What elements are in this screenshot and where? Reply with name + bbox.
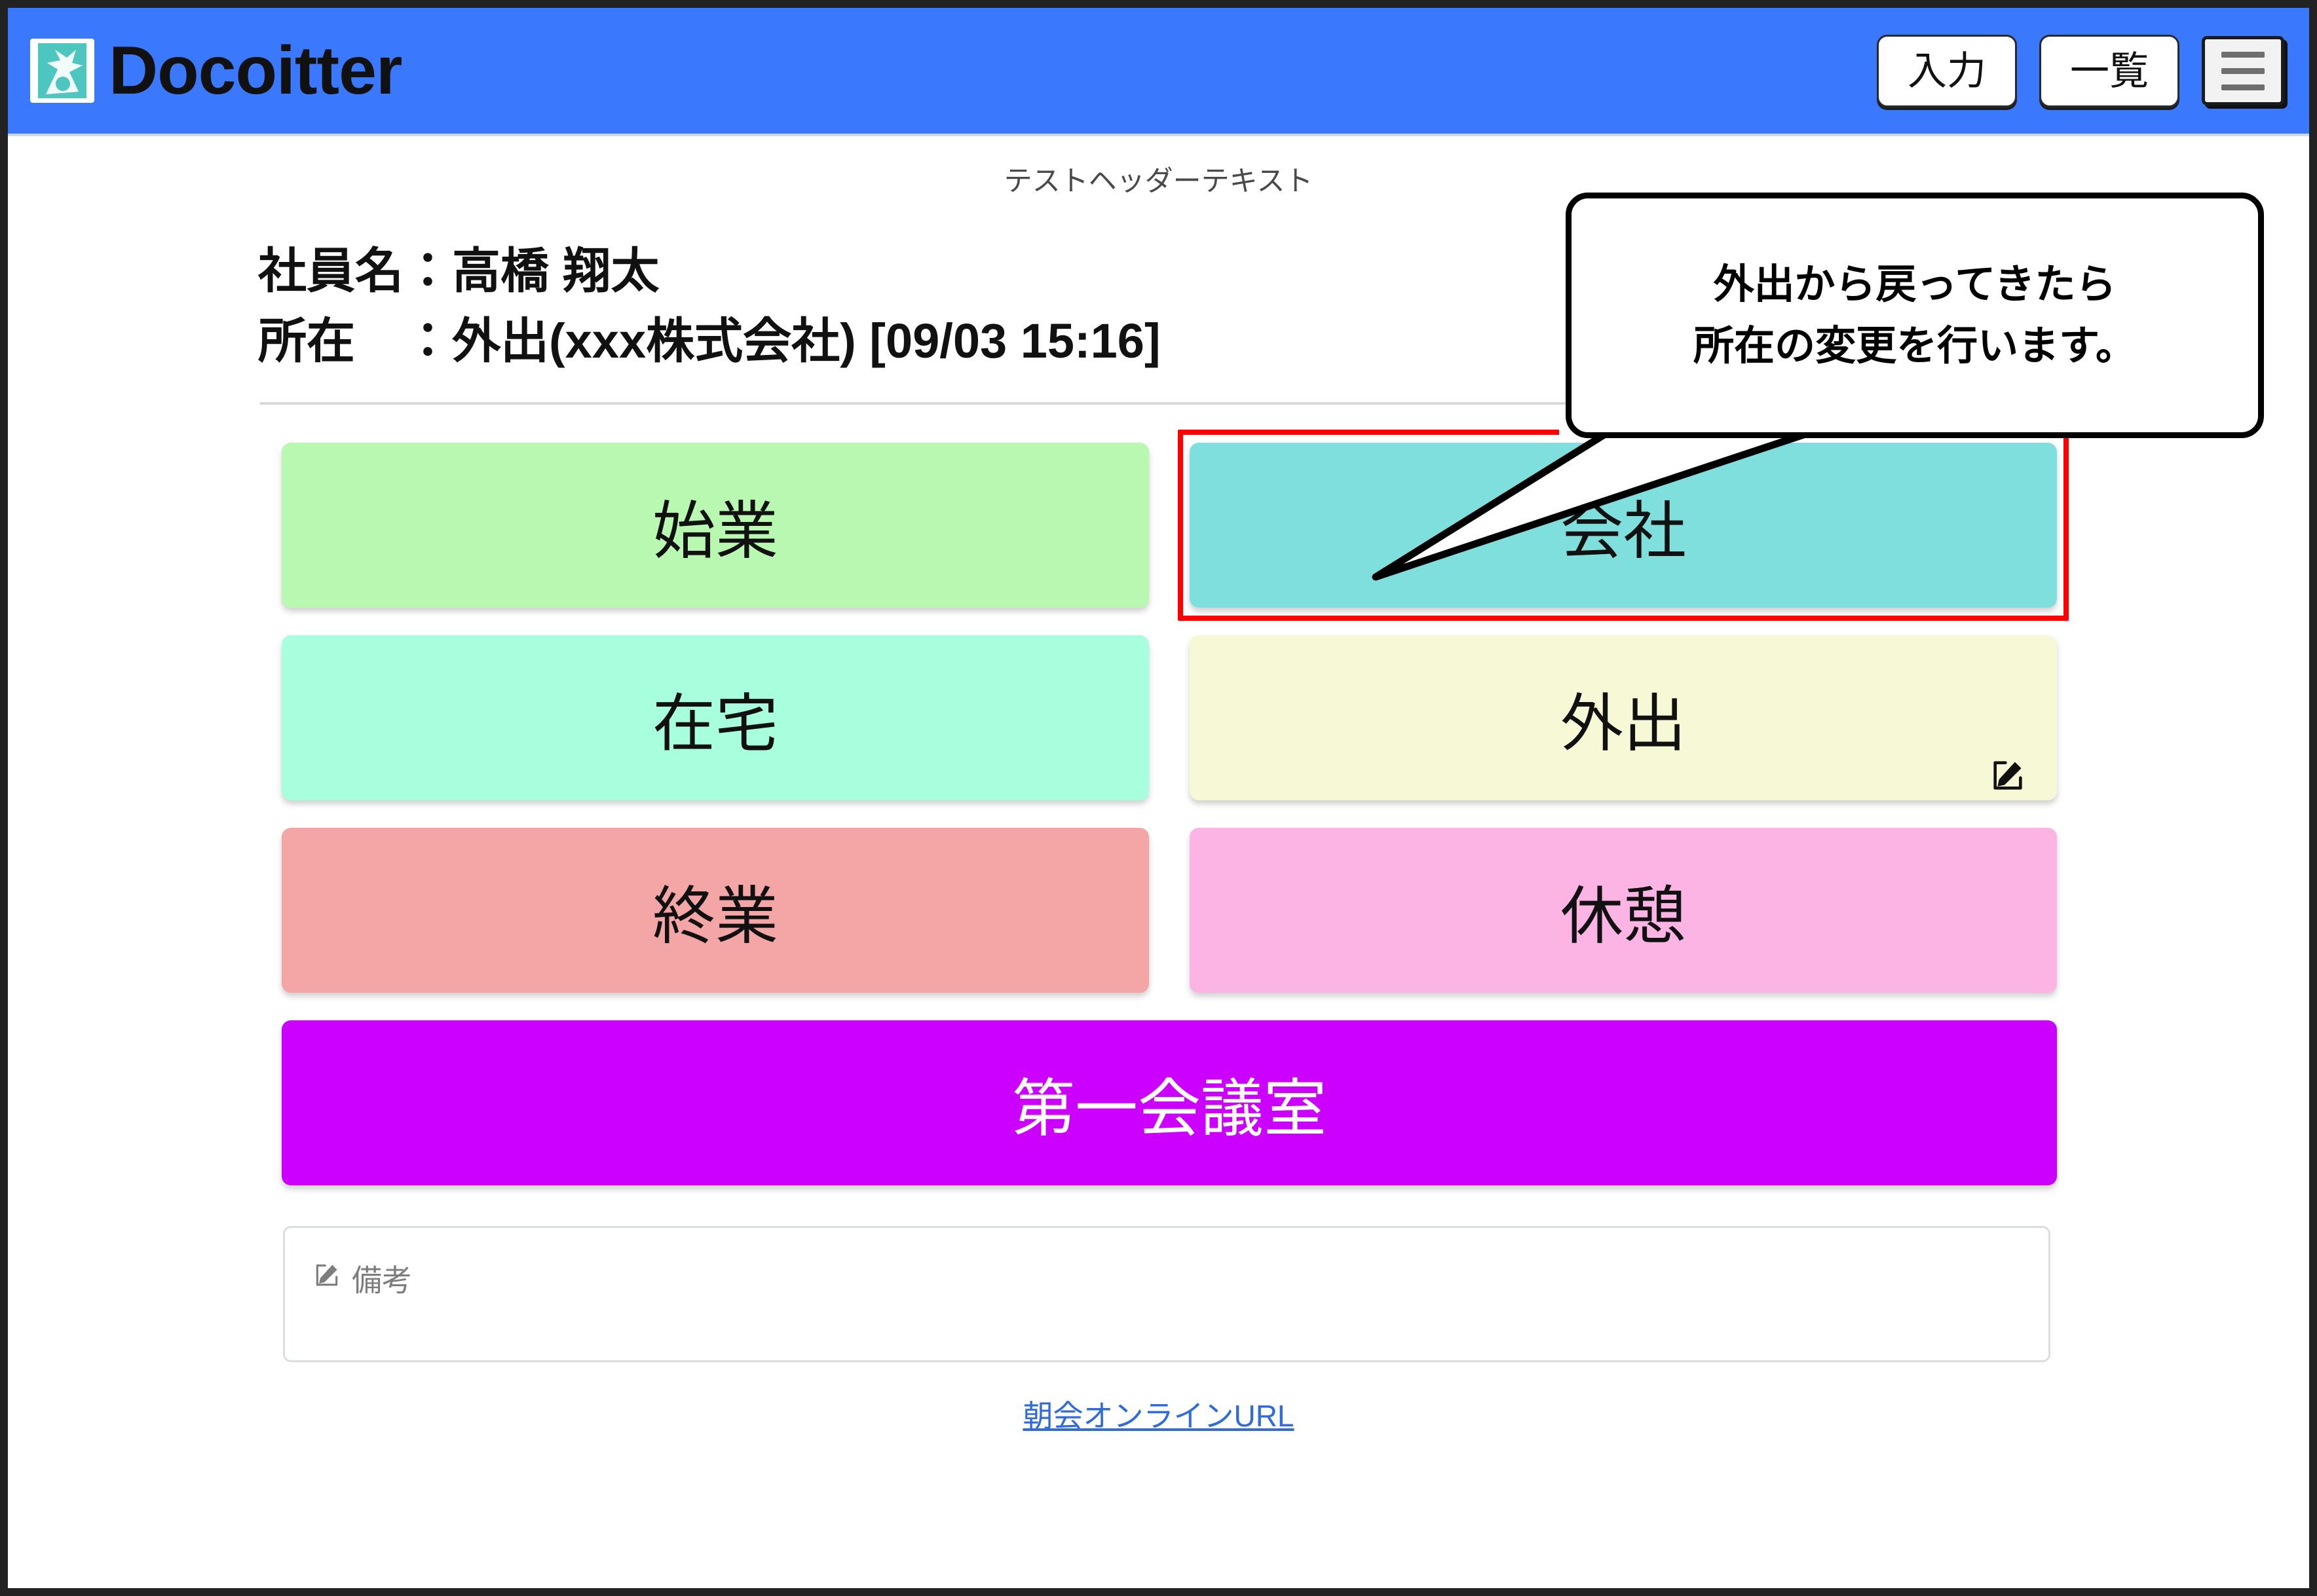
menu-line [2221, 84, 2265, 90]
status-button-label: 始業 [652, 480, 778, 571]
annotation-callout: 外出から戻ってきたら 所在の変更を行います。 [1566, 193, 2264, 438]
app-header-bar: Docoitter 入力 一覧 [8, 8, 2309, 136]
app-header-actions: 入力 一覧 [1877, 35, 2284, 107]
callout-box: 外出から戻ってきたら 所在の変更を行います。 [1566, 193, 2264, 438]
menu-line [2221, 68, 2265, 74]
status-button-label: 第一会議室 [1012, 1058, 1327, 1149]
remarks-field[interactable]: 備考 [283, 1226, 2050, 1362]
status-button-shugyo[interactable]: 終業 [282, 828, 1149, 993]
app-window: Docoitter 入力 一覧 テストヘッダーテキスト 社員名：高橋 翔太 所在… [0, 0, 2317, 1596]
pencil-square-icon [1989, 737, 2027, 775]
callout-line-2: 所在の変更を行います。 [1693, 323, 2136, 369]
status-button-kyukei[interactable]: 休憩 [1190, 828, 2057, 993]
status-button-gaishutsu[interactable]: 外出 [1190, 635, 2057, 800]
bird-logo-icon [30, 39, 94, 103]
hamburger-menu-icon[interactable] [2202, 36, 2284, 105]
remarks-input[interactable] [285, 1228, 2048, 1360]
morning-meeting-url-link[interactable]: 朝会オンラインURL [8, 1392, 2309, 1436]
app-title: Docoitter [109, 37, 402, 105]
input-button[interactable]: 入力 [1877, 35, 2017, 107]
status-button-shigyo[interactable]: 始業 [282, 443, 1149, 608]
status-button-zaitaku[interactable]: 在宅 [282, 635, 1149, 800]
status-button-label: 休憩 [1560, 865, 1686, 956]
page-header-text: テストヘッダーテキスト [8, 136, 2309, 199]
status-button-label: 外出 [1560, 673, 1686, 764]
menu-line [2221, 52, 2265, 58]
callout-tail [1363, 425, 1821, 582]
callout-line-1: 外出から戻ってきたら [1713, 261, 2116, 308]
list-button[interactable]: 一覧 [2039, 35, 2179, 107]
status-button-label: 在宅 [652, 673, 778, 764]
status-button-meeting-room-1[interactable]: 第一会議室 [282, 1020, 2057, 1185]
brand: Docoitter [30, 37, 402, 105]
status-button-label: 終業 [652, 865, 778, 956]
